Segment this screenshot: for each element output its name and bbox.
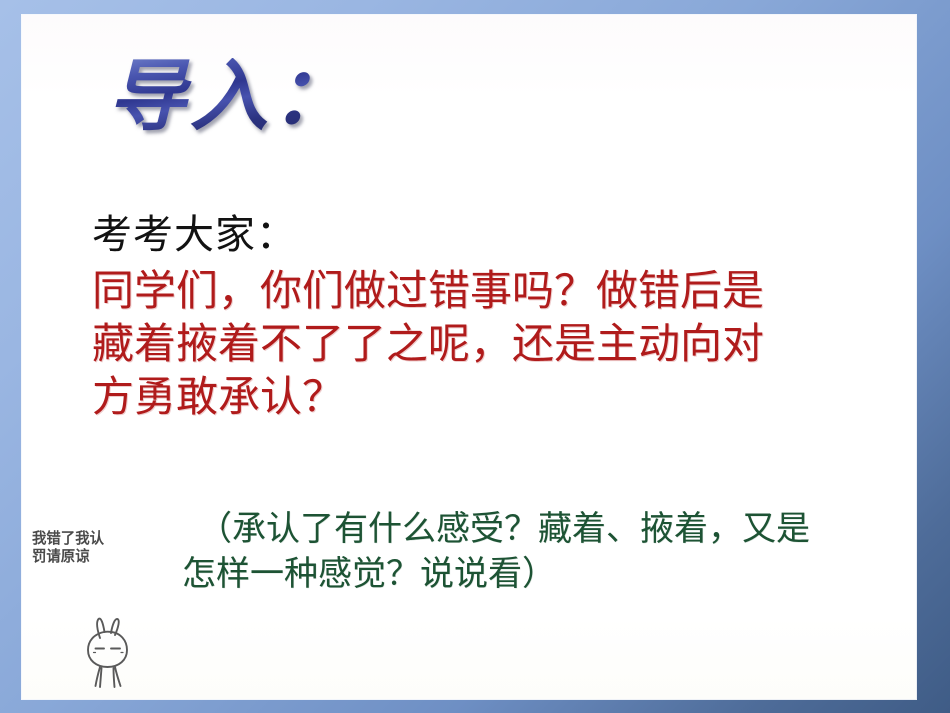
sticker-caption-line: 我错了我认: [32, 530, 166, 548]
question-line: 藏着掖着不了了之呢，还是主动向对: [92, 318, 902, 371]
aside-line: （承认了有什么感受？藏着、掖着，又是: [182, 507, 902, 552]
slide-canvas-frame: 导入： 导入： 考考大家： 同学们，你们做过错事吗？做错后是 藏着掖着不了了之呢…: [0, 0, 950, 713]
aside-line: 怎样一种感觉？说说看）: [182, 552, 902, 597]
sticker-caption-line: 罚请原谅: [32, 548, 166, 566]
question-line: 同学们，你们做过错事吗？做错后是: [92, 265, 902, 318]
rabbit-doodle-icon: [70, 612, 160, 692]
aside-paragraph: （承认了有什么感受？藏着、掖着，又是 怎样一种感觉？说说看）: [182, 507, 902, 597]
body-text-block: 考考大家： 同学们，你们做过错事吗？做错后是 藏着掖着不了了之呢，还是主动向对 …: [92, 210, 902, 424]
sticker-caption: 我错了我认 罚请原谅: [32, 530, 166, 565]
page-title: 导入：: [108, 58, 354, 136]
rabbit-sticker: 我错了我认 罚请原谅: [30, 530, 180, 690]
question-line: 方勇敢承认？: [92, 371, 902, 424]
question-paragraph: 同学们，你们做过错事吗？做错后是 藏着掖着不了了之呢，还是主动向对 方勇敢承认？: [92, 265, 902, 424]
prompt-line: 考考大家：: [92, 210, 902, 261]
slide-content-area: 导入： 导入： 考考大家： 同学们，你们做过错事吗？做错后是 藏着掖着不了了之呢…: [22, 15, 916, 699]
